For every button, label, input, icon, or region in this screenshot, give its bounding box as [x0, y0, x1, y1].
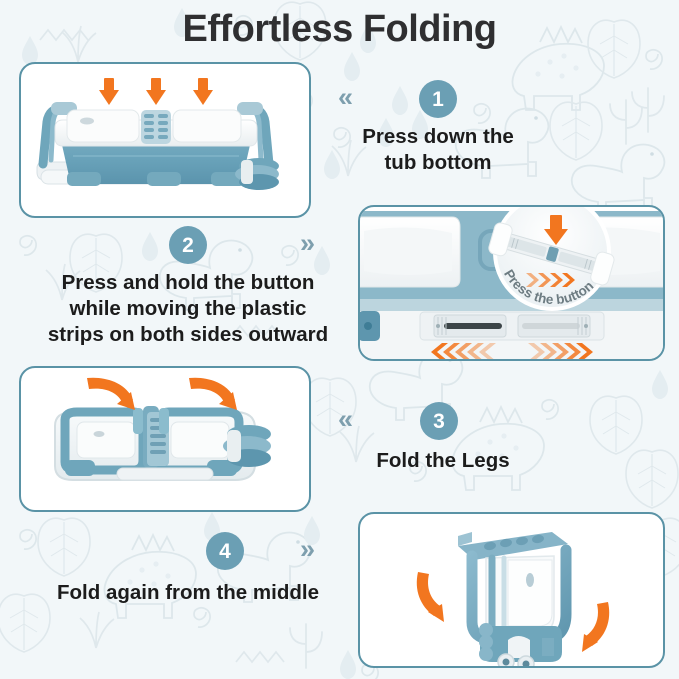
curved-arrow-group: [87, 378, 237, 410]
step-number-badge-3: 3: [420, 402, 458, 440]
step-block-4: 4 » Fold again from the middle: [38, 532, 338, 606]
chevron-right-icon-step-4: »: [300, 536, 311, 563]
illustration-panel-step-2: Press the button: [358, 205, 665, 361]
step-4-header: 4 »: [38, 532, 338, 572]
step-3-text: Fold the Legs: [338, 448, 548, 474]
step-block-2: 2 » Press and hold the button while movi…: [38, 226, 338, 347]
down-arrow-group: [99, 78, 213, 105]
step-number-badge-2: 2: [169, 226, 207, 264]
step-1-text: Press down the tub bottom: [338, 124, 538, 176]
step-4-text: Fold again from the middle: [38, 580, 338, 606]
infographic-root: Effortless Folding: [0, 0, 679, 679]
chevron-left-icon-step-3: «: [338, 406, 349, 433]
step-2-text: Press and hold the button while moving t…: [38, 270, 338, 347]
step-2-header: 2 »: [38, 226, 338, 266]
chevron-left-icon-step-1: «: [338, 84, 349, 111]
step-1-header: « 1: [338, 80, 538, 120]
chevron-right-icon-step-2: »: [300, 230, 311, 257]
illustration-panel-step-4: [358, 512, 665, 668]
step-block-1: « 1 Press down the tub bottom: [338, 80, 538, 176]
illustration-panel-step-1: [19, 62, 311, 218]
step-3-header: « 3: [338, 402, 548, 442]
step-block-3: « 3 Fold the Legs: [338, 402, 548, 474]
page-title: Effortless Folding: [0, 8, 679, 51]
step-number-badge-1: 1: [419, 80, 457, 118]
illustration-panel-step-3: [19, 366, 311, 512]
step-number-badge-4: 4: [206, 532, 244, 570]
